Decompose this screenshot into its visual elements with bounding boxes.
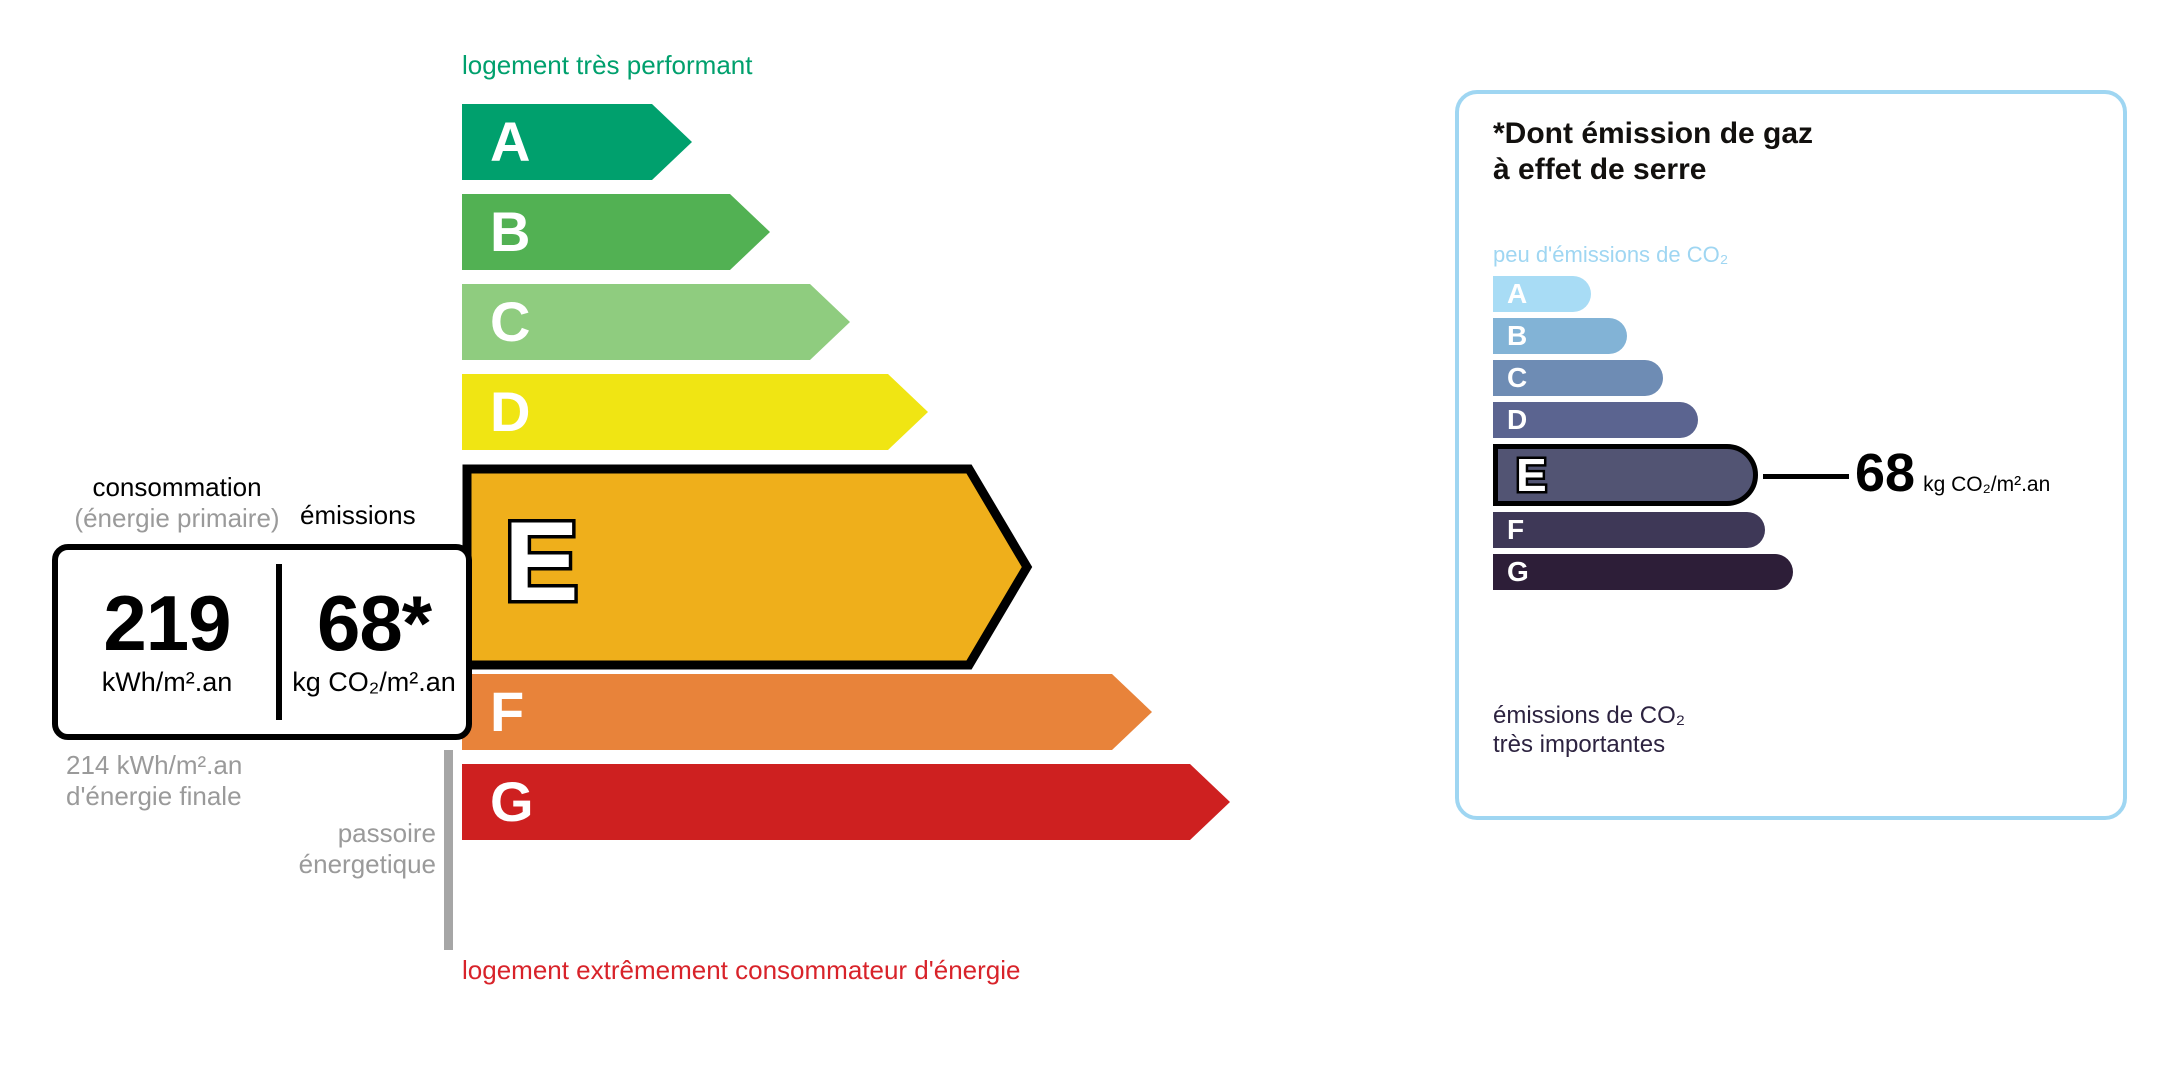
co2-letter-c: C	[1507, 364, 1527, 392]
co2-letter-d: D	[1507, 406, 1527, 434]
value-box: 219 kWh/m².an 68* kg CO₂/m².an	[52, 544, 472, 740]
co2-bar-f: F	[1493, 512, 1765, 548]
co2-bottom-caption: émissions de CO₂ très importantes	[1493, 702, 1685, 760]
energy-row-d: D	[462, 374, 1262, 450]
co2-callout: 68kg CO₂/m².an	[1855, 446, 2050, 500]
energy-row-f: F	[462, 674, 1262, 750]
energy-row-g: G	[462, 764, 1262, 840]
co2-callout-unit: kg CO₂/m².an	[1923, 473, 2050, 497]
energy-class-scale: ABCDEFG	[462, 104, 1262, 854]
emissions-value-cell: 68* kg CO₂/m².an	[282, 550, 466, 734]
consumption-value-cell: 219 kWh/m².an	[58, 550, 276, 734]
energy-bottom-caption: logement extrêmement consommateur d'éner…	[462, 955, 1020, 986]
energy-performance-panel: logement très performant ABCDEFG consomm…	[0, 0, 1400, 1079]
final-energy-line1: 214 kWh/m².an	[66, 750, 242, 781]
co2-bar-a: A	[1493, 276, 1591, 312]
consumption-label-sub: (énergie primaire)	[62, 503, 292, 534]
passoire-indicator-bar	[444, 750, 453, 950]
consumption-value: 219	[103, 586, 230, 661]
co2-bar-e: E	[1493, 444, 1758, 506]
co2-letter-g: G	[1507, 558, 1529, 586]
emissions-value: 68*	[317, 586, 431, 661]
passoire-energetique-label: passoire énergetique	[196, 818, 436, 880]
emissions-label: émissions	[300, 500, 416, 531]
energy-row-b: B	[462, 194, 1262, 270]
energy-row-c: C	[462, 284, 1262, 360]
co2-row-g: G	[1493, 554, 1793, 590]
co2-bar-c: C	[1493, 360, 1663, 396]
energy-arrow-f: F	[462, 674, 1262, 750]
energy-arrow-c: C	[462, 284, 1262, 360]
co2-row-c: C	[1493, 360, 1793, 396]
co2-letter-e: E	[1516, 452, 1547, 498]
consumption-label-main: consommation	[92, 472, 261, 502]
energy-top-caption: logement très performant	[462, 50, 752, 81]
co2-row-a: A	[1493, 276, 1793, 312]
energy-row-e: E	[462, 464, 1262, 660]
final-energy-label: 214 kWh/m².an d'énergie finale	[66, 750, 242, 812]
co2-bar-d: D	[1493, 402, 1698, 438]
co2-panel-title: *Dont émission de gaz à effet de serre	[1493, 116, 1813, 188]
co2-row-b: B	[1493, 318, 1793, 354]
co2-row-e: E68kg CO₂/m².an	[1493, 444, 1793, 506]
co2-emissions-panel: *Dont émission de gaz à effet de serre p…	[1455, 90, 2127, 820]
co2-letter-b: B	[1507, 322, 1527, 350]
energy-row-a: A	[462, 104, 1262, 180]
co2-bar-g: G	[1493, 554, 1793, 590]
co2-top-caption: peu d'émissions de CO₂	[1493, 242, 1728, 268]
consumption-unit: kWh/m².an	[102, 667, 233, 698]
co2-callout-value: 68	[1855, 446, 1915, 500]
emissions-unit: kg CO₂/m².an	[292, 667, 456, 698]
co2-class-scale: ABCDE68kg CO₂/m².anFG	[1493, 276, 1793, 596]
co2-bar-b: B	[1493, 318, 1627, 354]
co2-row-f: F	[1493, 512, 1793, 548]
energy-arrow-g: G	[462, 764, 1262, 840]
final-energy-line2: d'énergie finale	[66, 781, 242, 812]
energy-arrow-b: B	[462, 194, 1262, 270]
co2-letter-a: A	[1507, 280, 1527, 308]
co2-callout-leader-line	[1763, 474, 1849, 479]
energy-arrow-e: E	[462, 464, 1262, 660]
energy-arrow-a: A	[462, 104, 1262, 180]
consumption-label: consommation (énergie primaire)	[62, 472, 292, 533]
passoire-line2: énergetique	[196, 849, 436, 880]
energy-arrow-d: D	[462, 374, 1262, 450]
co2-letter-f: F	[1507, 516, 1524, 544]
co2-row-d: D	[1493, 402, 1793, 438]
passoire-line1: passoire	[196, 818, 436, 849]
